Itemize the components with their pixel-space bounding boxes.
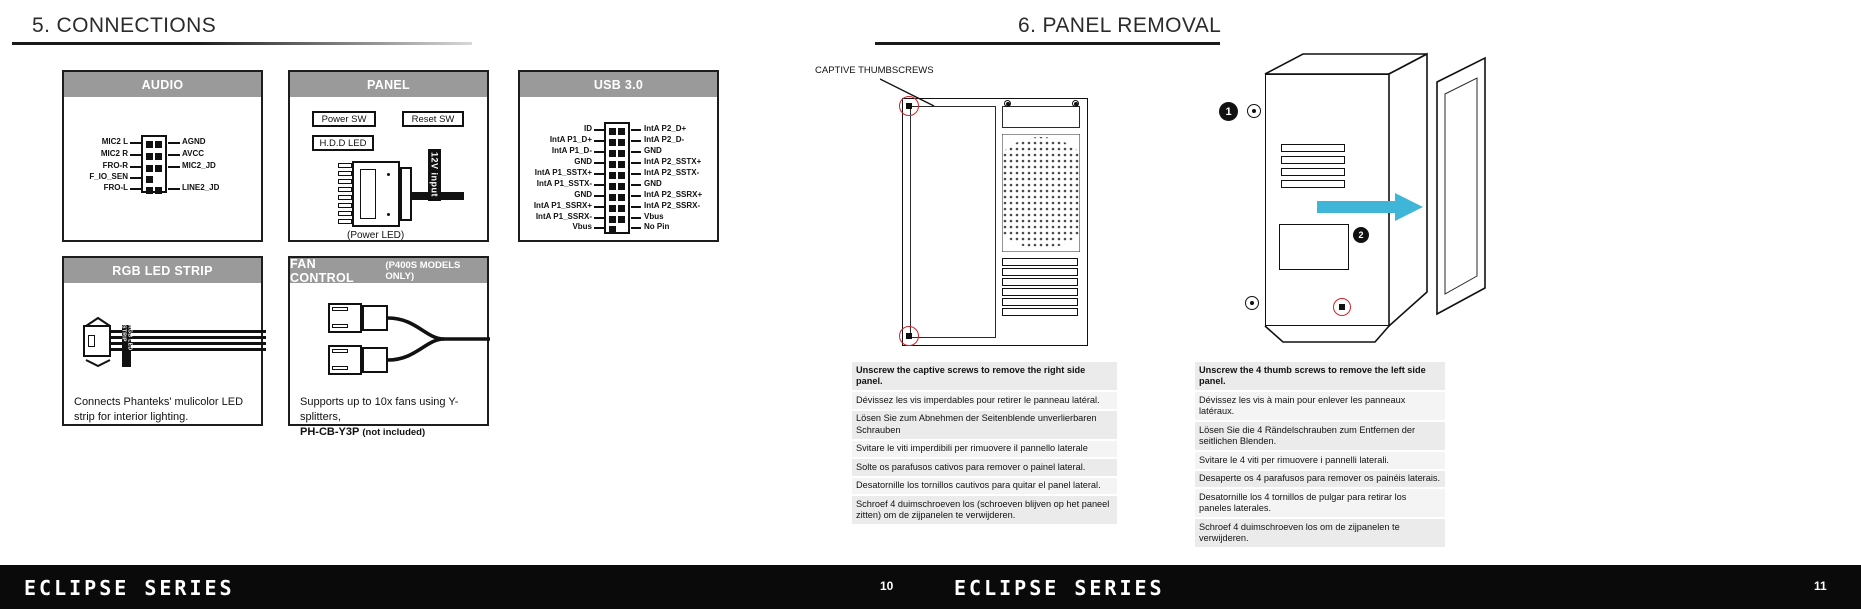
instruction2-line-pt: Desaperte os 4 parafusos para remover os… — [1195, 471, 1445, 488]
usb3-right-pin-8: Vbus — [644, 213, 664, 221]
panel-power-led-caption: (Power LED) — [347, 230, 404, 241]
card-usb3: USB 3.0 — [518, 70, 719, 242]
audio-right-pin-1: AVCC — [182, 150, 204, 158]
usb3-right-pin-2: GND — [644, 147, 662, 155]
audio-right-pin-0: AGND — [182, 138, 206, 146]
card-usb3-title: USB 3.0 — [520, 72, 717, 97]
card-audio-body: MIC2 L MIC2 R FRO-R F_IO_SEN FRO-L AGND … — [64, 97, 261, 240]
section-rule-left — [12, 42, 472, 45]
instruction-line-nl: Schroef 4 duimschroeven los (schroeven b… — [852, 496, 1117, 524]
callout-badge-1: 1 — [1219, 102, 1238, 121]
instruction2-line-nl: Schroef 4 duimschroeven los om de zijpan… — [1195, 519, 1445, 547]
audio-right-pin-3: LINE2_JD — [182, 184, 219, 192]
usb3-left-pin-7: IntA P1_SSRX+ — [520, 202, 592, 210]
audio-left-pin-0: MIC2 L — [64, 138, 128, 146]
card-panel-body: Power SW Reset SW H.D.D LED — [290, 97, 487, 240]
section-rule-right — [875, 42, 1220, 45]
instruction-line-de: Lösen Sie zum Abnehmen der Seitenblende … — [852, 411, 1117, 439]
usb3-right-pin-9: No Pin — [644, 223, 669, 231]
usb3-left-pin-4: IntA P1_SSTX+ — [520, 169, 592, 177]
page-title-panel-removal: 6. PANEL REMOVAL — [1018, 14, 1221, 38]
instruction2-line-en: Unscrew the 4 thumb screws to remove the… — [1195, 362, 1445, 390]
card-audio-title: AUDIO — [64, 72, 261, 97]
card-rgb-note: Connects Phanteks' mulicolor LED strip f… — [74, 395, 256, 425]
case-illustration-left-panel: 1 2 — [1235, 52, 1555, 352]
footer-bar: ECLIPSE SERIES 10 ECLIPSE SERIES 11 — [0, 565, 1861, 609]
card-fan-control: FAN CONTROL (P400S MODELS ONLY) Supports… — [288, 256, 489, 426]
card-fan-note-part: PH-CB-Y3P — [300, 426, 359, 438]
card-fan-note: Supports up to 10x fans using Y-splitter… — [300, 395, 486, 440]
usb3-right-pin-6: IntA P2_SSRX+ — [644, 191, 702, 199]
usb3-pin-header — [604, 122, 630, 234]
usb3-left-pin-8: IntA P1_SSRX- — [520, 213, 592, 221]
card-rgb-body: RGB LED STRIP Connects Phanteks' mulicol… — [64, 283, 261, 424]
card-fan-title-sub: (P400S MODELS ONLY) — [385, 260, 487, 282]
usb3-right-pin-1: IntA P2_D- — [644, 136, 684, 144]
rgb-cable-tag: RGB LED STRIP — [122, 325, 131, 367]
usb3-right-pin-0: IntA P2_D+ — [644, 125, 686, 133]
card-fan-body: Supports up to 10x fans using Y-splitter… — [290, 283, 487, 424]
usb3-right-pin-3: IntA P2_SSTX+ — [644, 158, 701, 166]
audio-left-pin-2: FRO-R — [64, 162, 128, 170]
case-illustration-right-panel — [902, 92, 1092, 350]
panel-connector-inner — [360, 169, 376, 219]
usb3-right-pin-4: IntA P2_SSTX- — [644, 169, 699, 177]
usb3-left-pin-5: IntA P1_SSTX- — [520, 180, 592, 188]
card-rgb-title: RGB LED STRIP — [64, 258, 261, 283]
instructions-right-side-panel: Unscrew the captive screws to remove the… — [852, 362, 1117, 526]
instruction-line-it: Svitare le viti imperdibili per rimuover… — [852, 441, 1117, 458]
instruction2-line-fr: Dévissez les vis à main pour enlever les… — [1195, 392, 1445, 420]
instruction-line-es: Desatornille los tornillos cautivos para… — [852, 478, 1117, 495]
instructions-left-side-panel: Unscrew the 4 thumb screws to remove the… — [1195, 362, 1445, 549]
right-page: 6. PANEL REMOVAL CAPTIVE THUMBSCREWS — [930, 0, 1861, 565]
card-fan-title-wrap: FAN CONTROL (P400S MODELS ONLY) — [290, 258, 487, 283]
panel-connector-tab — [400, 167, 412, 221]
usb3-left-pin-9: Vbus — [520, 223, 592, 231]
audio-left-pin-4: FRO-L — [64, 184, 128, 192]
manual-spread: 5. CONNECTIONS AUDIO — [0, 0, 1861, 609]
instruction2-line-it: Svitare le 4 viti per rimuovere i pannel… — [1195, 452, 1445, 469]
card-fan-note-line1: Supports up to 10x fans using Y-splitter… — [300, 396, 458, 423]
instruction-line-fr: Dévissez les vis imperdables pour retire… — [852, 392, 1117, 409]
left-page: 5. CONNECTIONS AUDIO — [0, 0, 930, 565]
brand-logo-right: ECLIPSE SERIES — [954, 576, 1165, 600]
fan-y-splitter-cable — [386, 301, 492, 381]
panel-button-hdd-led: H.D.D LED — [312, 135, 374, 151]
usb3-left-pin-0: ID — [520, 125, 592, 133]
usb3-left-pin-1: IntA P1_D+ — [520, 136, 592, 144]
usb3-left-pin-2: IntA P1_D- — [520, 147, 592, 155]
instruction2-line-es: Desatornille los 4 tornillos de pulgar p… — [1195, 489, 1445, 517]
audio-pin-header — [141, 135, 167, 193]
callout-badge-2: 2 — [1353, 227, 1369, 243]
brand-logo-left: ECLIPSE SERIES — [24, 576, 235, 600]
panel-removal-direction-arrow — [1317, 192, 1427, 222]
panel-button-reset-sw: Reset SW — [402, 111, 464, 127]
card-fan-title: FAN CONTROL — [290, 257, 379, 285]
card-panel-title: PANEL — [290, 72, 487, 97]
thumbscrew-marker-1 — [1247, 104, 1261, 118]
panel-button-power-sw: Power SW — [312, 111, 376, 127]
card-usb3-body: ID IntA P1_D+ IntA P1_D- GND IntA P1_SST… — [520, 97, 717, 240]
card-panel: PANEL Power SW Reset SW H.D.D LED — [288, 70, 489, 242]
page-title-connections: 5. CONNECTIONS — [32, 14, 216, 38]
card-fan-note-not-included: (not included) — [362, 427, 425, 438]
audio-left-pin-1: MIC2 R — [64, 150, 128, 158]
footer-left: ECLIPSE SERIES 10 — [0, 565, 930, 609]
usb3-left-pin-3: GND — [520, 158, 592, 166]
usb3-right-pin-5: GND — [644, 180, 662, 188]
card-audio: AUDIO — [62, 70, 263, 242]
instruction2-line-de: Lösen Sie die 4 Rändelschrauben zum Entf… — [1195, 422, 1445, 450]
card-rgb-led-strip: RGB LED STRIP RGB LED STRIP Connects Pha… — [62, 256, 263, 426]
instruction-line-en: Unscrew the captive screws to remove the… — [852, 362, 1117, 390]
audio-right-pin-2: MIC2_JD — [182, 162, 216, 170]
footer-right: ECLIPSE SERIES 11 — [930, 565, 1861, 609]
usb3-left-pin-6: GND — [520, 191, 592, 199]
page-number-right: 11 — [1814, 579, 1827, 593]
page-number-left: 10 — [880, 579, 893, 593]
usb3-right-pin-7: IntA P2_SSRX- — [644, 202, 700, 210]
audio-left-pin-3: F_IO_SEN — [64, 173, 128, 181]
instruction-line-pt: Solte os parafusos cativos para remover … — [852, 459, 1117, 476]
panel-12v-input-label: 12V input — [428, 149, 441, 201]
annotation-captive-thumbscrews: CAPTIVE THUMBSCREWS — [815, 65, 934, 76]
thumbscrew-marker-2 — [1245, 296, 1259, 310]
